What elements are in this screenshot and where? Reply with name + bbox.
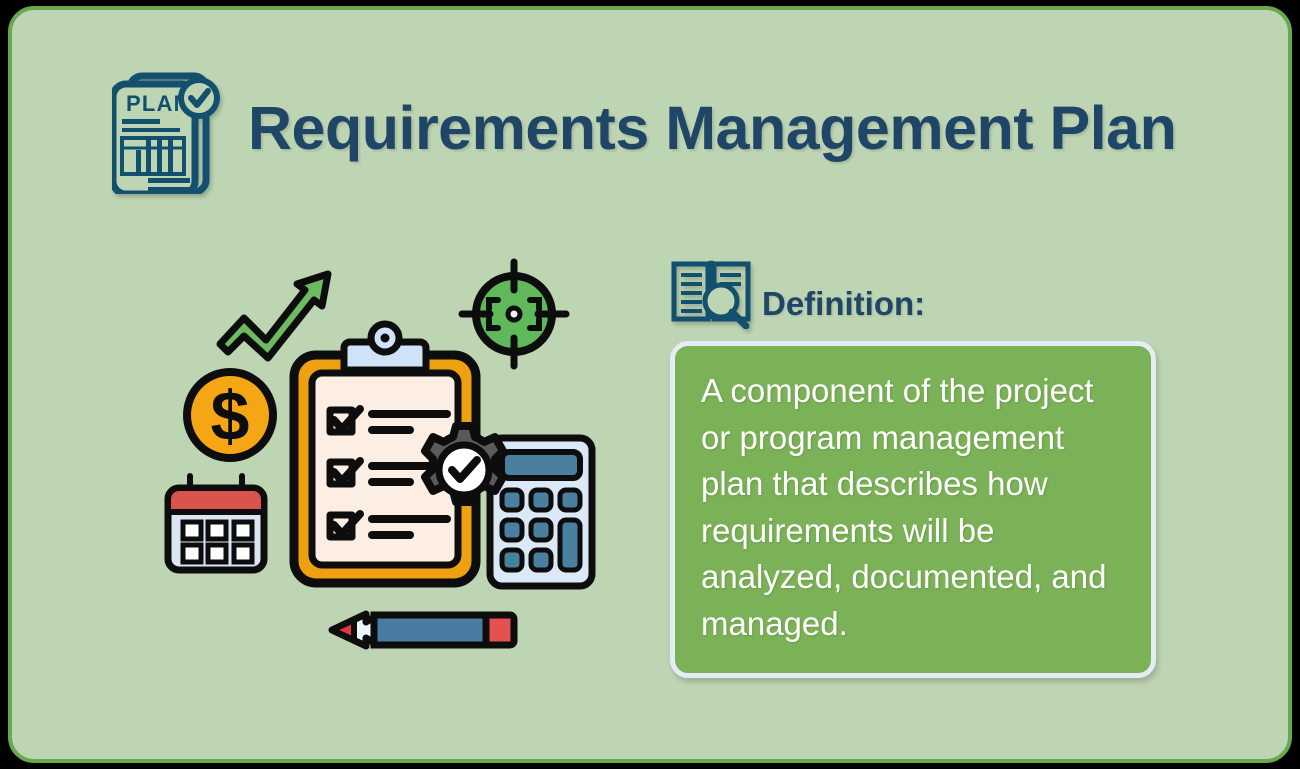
growth-arrow-icon xyxy=(220,274,328,358)
pencil-icon xyxy=(332,614,514,646)
calendar-icon xyxy=(168,476,264,570)
dollar-coin-icon: $ xyxy=(187,372,273,458)
target-crosshair-icon xyxy=(462,262,566,366)
definition-header: Definition: xyxy=(670,253,1160,329)
open-book-search-icon xyxy=(670,253,756,329)
definition-block: Definition: A component of the project o… xyxy=(670,253,1160,678)
definition-text: A component of the project or program ma… xyxy=(701,368,1125,647)
plan-document-icon: PLAN xyxy=(112,62,232,194)
requirements-management-illustration: $ xyxy=(142,240,622,670)
calculator-icon xyxy=(490,438,592,586)
page-title: Requirements Management Plan xyxy=(248,93,1176,163)
svg-text:$: $ xyxy=(211,377,250,455)
definition-label: Definition: xyxy=(762,285,925,329)
definition-card: A component of the project or program ma… xyxy=(670,341,1156,678)
slide-frame: PLAN Requirements Management Plan xyxy=(8,6,1292,763)
header: PLAN Requirements Management Plan xyxy=(112,62,1176,194)
